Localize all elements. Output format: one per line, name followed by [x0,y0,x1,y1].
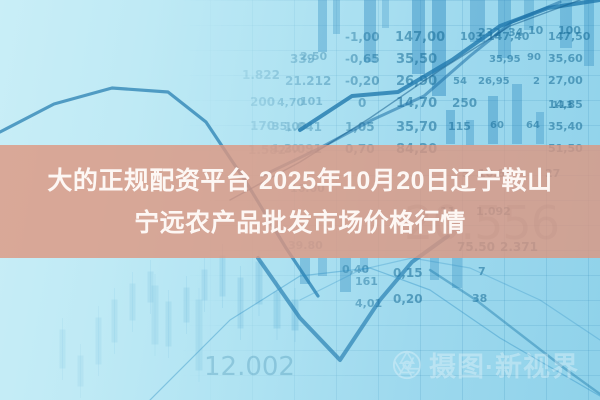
watermark-text: 摄图·新视界 [429,345,579,384]
background-number: 0,20 [393,292,423,306]
background-bar [412,0,425,74]
background-bar [466,120,474,145]
background-bar [470,0,485,42]
background-bar [584,0,594,66]
background-candlestick [148,272,153,302]
background-number: 35,60 [548,52,583,65]
background-number: 35,40 [548,120,583,133]
background-number: 4,01 [355,297,382,310]
background-number: 60 [490,120,504,131]
background-candlestick [78,356,83,386]
background-bar [560,0,572,48]
background-secondary-number: 12.002 [204,352,295,382]
background-candlestick [166,302,171,346]
background-bar [340,258,351,292]
background-number: 26,90 [396,74,437,89]
background-bar [452,258,462,288]
background-number: 90 [527,52,541,63]
background-bar [364,0,376,62]
trend-line-descending-right [430,270,600,394]
background-number: 2 [533,76,540,87]
background-number: 339 [290,52,315,66]
background-bar [432,0,446,96]
background-number: 113 [552,100,573,111]
background-number: 103 [460,30,483,43]
background-number: 64 [526,120,540,131]
watermark: 摄图·新视界 [392,345,579,384]
title-line-2: 宁远农产品批发市场价格行情 [134,202,466,244]
background-number: 0 [358,96,366,110]
background-number: 200 [250,95,275,109]
title-banner: 大的正规配资平台 2025年10月20日辽宁鞍山 宁远农产品批发市场价格行情 [0,145,600,258]
background-bar [430,258,439,280]
trend-line-faint-upper [300,258,600,340]
background-candlestick [238,278,243,328]
background-number: 26,95 [478,76,510,87]
camera-aperture-icon [392,350,422,380]
background-bar [382,0,389,28]
background-number: 14,70 [396,96,437,111]
background-bar [333,0,340,34]
background-number: 147,00 [395,30,445,45]
background-candlestick [202,270,207,300]
background-number: 0,40 [342,263,369,276]
background-number: 38 [472,292,487,305]
background-number: 14,85 [548,98,583,111]
background-number: 1.041 [284,120,322,134]
background-candlestick [274,292,280,328]
background-number: -0,20 [345,74,380,88]
background-candlestick [184,288,189,322]
background-bar [512,84,522,144]
background-bar [446,110,455,144]
background-bar [318,0,327,52]
background-candlestick [96,318,101,364]
background-number: 100 [558,24,581,37]
background-number: 170 [250,119,275,133]
background-bar [318,258,327,276]
background-number: 147,50 [548,30,590,43]
background-number: 27,00 [548,74,583,87]
background-number: 34 [508,26,523,39]
background-number: 35,00 [272,120,307,133]
background-number: -0,65 [345,52,380,66]
background-number: 35,50 [396,52,437,67]
background-candlestick [292,300,298,330]
background-bar [360,258,368,272]
background-bar [498,0,511,58]
background-number: 4,70 [277,96,304,109]
background-number: 1.822 [242,68,280,82]
background-number: 250 [452,96,477,110]
background-number: 10 [528,24,543,37]
background-number: 35,70 [396,120,437,135]
background-number: 2,50 [300,50,327,63]
background-number: 7 [478,265,486,278]
background-number: 147,40 [487,30,529,43]
financial-banner-image: 147,00103147,40147,50-1,0035,5035,6035,9… [0,0,600,400]
background-candlestick [256,262,262,304]
background-candlestick [112,300,117,342]
background-number: 115 [448,120,471,133]
background-bar [488,96,498,144]
background-candlestick [196,300,202,370]
background-candlestick [60,330,65,368]
background-number: 0,15 [393,266,423,280]
title-line-1: 大的正规配资平台 2025年10月20日辽宁鞍山 [47,160,552,202]
background-number: 35,95 [489,54,521,65]
background-candlestick [152,286,158,344]
background-bar [536,112,544,144]
background-number: -1,00 [345,30,380,44]
background-number: 1,05 [345,120,375,134]
background-number: 101 [300,95,323,108]
background-number: 161 [355,275,378,288]
background-bar [524,0,534,30]
trend-line-primary [300,0,600,130]
background-number: 54 [453,76,467,87]
background-candlestick [220,256,225,296]
background-number: 232 [478,26,501,39]
background-bar [300,258,310,284]
background-candlestick [130,284,135,320]
background-number: 21.212 [285,74,331,88]
